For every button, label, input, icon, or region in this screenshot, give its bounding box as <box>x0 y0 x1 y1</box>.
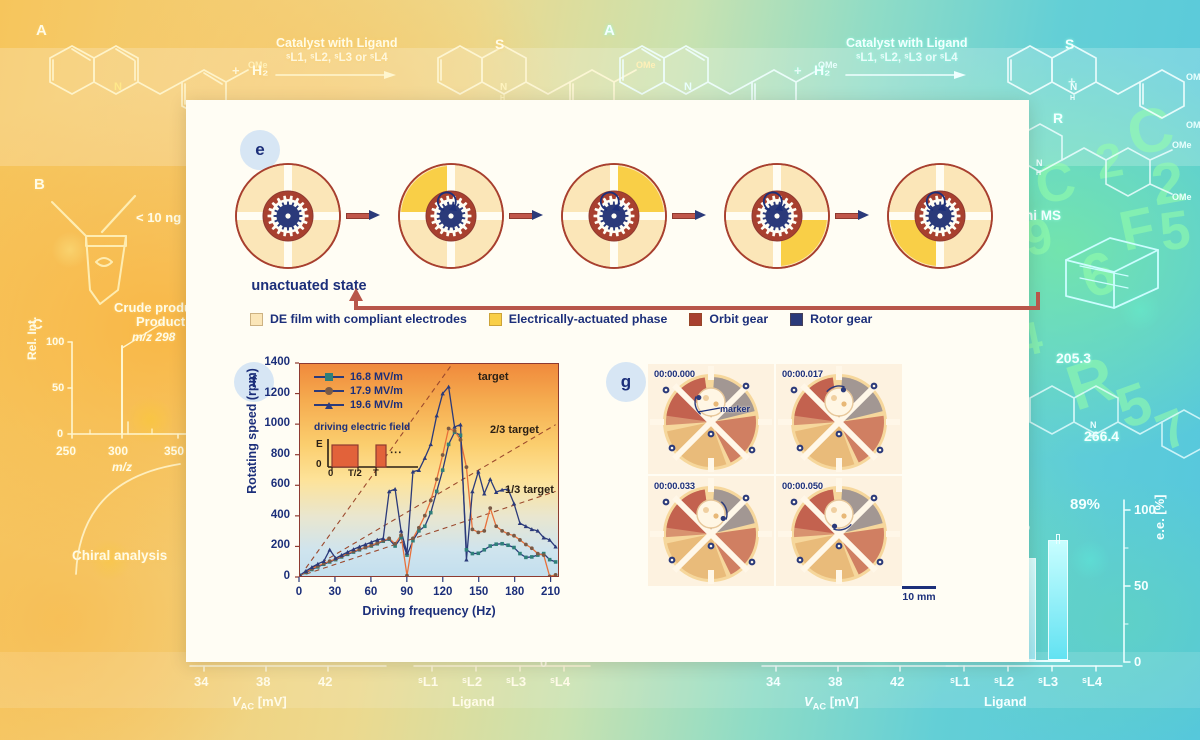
inset-xlabel-thalf: T/2 <box>348 468 362 479</box>
chart-ytick-1200: 1200 <box>242 387 290 399</box>
transition-arrow-2-icon <box>509 210 543 221</box>
mass-spectrum-axes <box>60 336 200 446</box>
data-point <box>464 557 468 561</box>
legend-label: DE film with compliant electrodes <box>270 312 467 326</box>
chart-legend-item-1: 17.9 MV/m <box>314 385 403 397</box>
frame-timestamp: 00:00.033 <box>654 481 695 491</box>
frame-050: 00:00.050 <box>776 476 902 586</box>
data-point <box>440 391 444 395</box>
reaction-scheme-right-enantiomer: N H OMe OMe <box>1010 118 1200 208</box>
data-point <box>441 453 445 457</box>
data-point <box>512 534 516 538</box>
reaction-arrow-right-icon <box>846 68 966 82</box>
data-point <box>542 535 546 539</box>
chart-ytick-0: 0 <box>242 570 290 582</box>
data-point <box>536 552 540 556</box>
data-point <box>429 511 433 515</box>
data-point <box>482 529 486 533</box>
target-annotation: target <box>478 371 509 383</box>
ee-value-l4: 89% <box>1070 496 1100 513</box>
figure-root: C 2 F 5 6 R 5 7 9 4 2 C OMe OMe N A + H₂… <box>0 0 1200 740</box>
ee-axis-title: e.e. [%] <box>1152 494 1167 540</box>
data-point <box>482 491 486 495</box>
data-point <box>500 529 504 533</box>
data-point <box>530 527 534 531</box>
legend-swatch-icon <box>250 313 263 326</box>
data-point <box>429 499 433 503</box>
frame-timestamp: 00:00.050 <box>782 481 823 491</box>
data-point <box>482 548 486 552</box>
data-point <box>512 501 516 505</box>
ligand-tick-l1-right: ˢL1 <box>950 674 970 689</box>
data-point <box>518 552 522 556</box>
vac-axis-title-left: VAC [mV] <box>232 694 287 712</box>
data-point <box>447 427 451 431</box>
ligand-tick-l2-left: ˢL2 <box>462 674 482 689</box>
nh-h-label-right: H <box>1070 95 1075 102</box>
transition-arrow-4-icon <box>835 210 869 221</box>
data-point <box>393 542 397 546</box>
gear-state-1 <box>234 162 342 270</box>
panel-g-badge: g <box>606 362 646 402</box>
chart-ytick-200: 200 <box>242 539 290 551</box>
chart-legend-item-2: 19.6 MV/m <box>314 399 403 411</box>
gear-state-sequence <box>234 162 1014 282</box>
legend-item-1: Electrically-actuated phase <box>489 312 668 326</box>
data-point <box>351 547 355 551</box>
scale-bar: 10 mm <box>902 586 936 603</box>
ome-label-right: OMe <box>818 60 838 70</box>
data-point <box>554 573 558 577</box>
ee-bar-l4 <box>1048 540 1068 660</box>
data-point <box>459 434 463 438</box>
legend-label: Orbit gear <box>709 312 768 326</box>
data-point <box>477 552 481 556</box>
legend-item-2: Orbit gear <box>689 312 768 326</box>
legend-item-0: DE film with compliant electrodes <box>250 312 467 326</box>
legend-swatch-icon <box>689 313 702 326</box>
ome-label-right-3: OMe <box>1186 72 1200 82</box>
gear-state-4 <box>723 162 831 270</box>
inset-ylabel-0: 0 <box>316 459 322 470</box>
svg-text:N: N <box>1090 420 1097 430</box>
vac-tick-42-left: 42 <box>318 674 332 689</box>
data-point <box>423 514 427 518</box>
data-point <box>447 443 451 447</box>
data-point <box>524 556 528 560</box>
data-point <box>488 544 492 548</box>
pipette-tube-icon <box>40 190 190 320</box>
ligand-tick-l4-left: ˢL4 <box>550 674 570 689</box>
chart-legend-label: 17.9 MV/m <box>350 385 403 397</box>
data-point <box>470 489 474 493</box>
chart-legend-marker-icon <box>314 400 344 410</box>
inset-ylabel-e: E <box>316 439 323 450</box>
background-axis-vac-left <box>190 660 390 674</box>
mini-ms-device-icon <box>1058 226 1168 316</box>
svg-text:H: H <box>1036 170 1041 177</box>
svg-text:OMe: OMe <box>1172 140 1192 150</box>
legend-swatch-icon <box>489 313 502 326</box>
chart-ytick-1000: 1000 <box>242 417 290 429</box>
data-point <box>310 565 314 569</box>
data-point <box>494 490 498 494</box>
inset-waveform: E 0 0 T/2 T ∙∙∙ <box>314 435 426 477</box>
data-point <box>458 422 462 426</box>
data-point <box>345 550 349 554</box>
data-point <box>405 551 409 555</box>
data-point <box>375 538 379 542</box>
data-point <box>530 546 534 550</box>
data-point <box>494 542 498 546</box>
data-point <box>547 538 551 542</box>
data-point <box>488 506 492 510</box>
figure-card: e unactuated state DE film with complian… <box>186 100 1029 662</box>
data-point <box>316 562 320 566</box>
chart-series-legend: 16.8 MV/m17.9 MV/m19.6 MV/m <box>314 371 403 413</box>
data-point <box>518 538 522 542</box>
data-point <box>452 425 456 429</box>
data-point <box>553 545 557 549</box>
ligand-tick-l4-right: ˢL4 <box>1082 674 1102 689</box>
data-point <box>506 543 510 547</box>
data-point <box>542 553 546 557</box>
chart-legend-marker-icon <box>314 386 344 396</box>
data-point <box>554 560 558 564</box>
data-point <box>357 545 361 549</box>
svg-text:OMe: OMe <box>1172 192 1192 202</box>
data-point <box>435 413 439 417</box>
gear-state-5 <box>886 162 994 270</box>
data-point <box>476 530 480 534</box>
ee-axis-right <box>1118 498 1132 664</box>
nh-atom-label-left: N <box>500 82 507 93</box>
vac-axis-title-right: VAC [mV] <box>804 694 859 712</box>
data-point <box>524 524 528 528</box>
nh-atom-label-right: N <box>1070 82 1077 93</box>
data-point <box>500 542 504 546</box>
data-point <box>536 529 540 533</box>
vac-tick-38-right: 38 <box>828 674 842 689</box>
legend-label: Rotor gear <box>810 312 872 326</box>
chart-ytick-1400: 1400 <box>242 356 290 368</box>
time-lapse-frames: 00:00.000marker00:00.01700:00.03300:00.0… <box>648 364 902 586</box>
data-point <box>459 438 463 442</box>
driving-field-inset: driving electric field E 0 <box>314 422 436 480</box>
n-atom-label-left: N <box>114 81 122 93</box>
data-point <box>500 488 504 492</box>
legend-label: Electrically-actuated phase <box>509 312 668 326</box>
chart-ytick-400: 400 <box>242 509 290 521</box>
gear-state-2 <box>397 162 505 270</box>
data-point <box>518 521 522 525</box>
chart-legend-marker-icon <box>314 372 344 382</box>
data-point <box>339 553 343 557</box>
inset-ellipsis: ∙∙∙ <box>390 447 402 459</box>
chart-ytick-600: 600 <box>242 478 290 490</box>
inset-xlabel-0: 0 <box>328 468 333 479</box>
data-point <box>399 533 403 537</box>
data-point <box>441 468 445 472</box>
data-point <box>453 429 457 433</box>
panel-e: e unactuated state DE film with complian… <box>186 100 1029 350</box>
data-point <box>530 555 534 559</box>
data-point <box>465 548 469 552</box>
data-point <box>322 559 326 563</box>
data-point <box>387 489 391 493</box>
gear-state-3 <box>560 162 668 270</box>
vac-tick-38-left: 38 <box>256 674 270 689</box>
data-point <box>381 536 385 540</box>
data-point <box>548 558 552 562</box>
data-point <box>328 559 332 563</box>
data-point <box>476 470 480 474</box>
data-point <box>387 537 391 541</box>
data-point <box>446 385 450 389</box>
data-point <box>488 477 492 481</box>
frame-timestamp: 00:00.017 <box>782 369 823 379</box>
inset-title: driving electric field <box>314 422 436 433</box>
svg-text:N: N <box>1036 158 1043 168</box>
vac-tick-34-right: 34 <box>766 674 780 689</box>
marker-leader-line <box>648 364 774 474</box>
ligand-tick-l2-right: ˢL2 <box>994 674 1014 689</box>
legend-swatch-icon <box>790 313 803 326</box>
panel-f: f Rotating speed (rpm) Driving frequency… <box>224 350 594 650</box>
n-atom-label-right: N <box>684 81 692 93</box>
svg-text:H₂: H₂ <box>1090 433 1098 440</box>
frame-000: 00:00.000marker <box>648 364 774 474</box>
ligand-tick-l3-right: ˢL3 <box>1038 674 1058 689</box>
ligand-tick-l3-left: ˢL3 <box>506 674 526 689</box>
legend-item-3: Rotor gear <box>790 312 872 326</box>
panel-e-legend: DE film with compliant electrodesElectri… <box>250 312 872 326</box>
ee-errorbar-l4 <box>1056 534 1060 544</box>
vac-tick-42-right: 42 <box>890 674 904 689</box>
chart-plot-area: 16.8 MV/m17.9 MV/m19.6 MV/m driving elec… <box>299 363 559 577</box>
ligand-axis-title-left: Ligand <box>452 694 495 709</box>
data-point <box>369 540 373 544</box>
data-point <box>423 525 427 529</box>
data-point <box>471 527 475 531</box>
transition-arrow-3-icon <box>672 210 706 221</box>
background-axis-ligand-right <box>946 660 1126 674</box>
data-point <box>506 532 510 536</box>
frame-017: 00:00.017 <box>776 364 902 474</box>
data-point <box>393 487 397 491</box>
data-point <box>465 465 469 469</box>
data-point <box>363 542 367 546</box>
background-axis-ligand-left <box>414 660 594 674</box>
background-structure-bottom-right: N H₂ <box>1020 370 1200 480</box>
scale-bar-label: 10 mm <box>902 591 936 603</box>
ee-ytick-0: 0 <box>1134 654 1141 669</box>
inset-xlabel-t: T <box>373 468 379 479</box>
reaction-arrow-left-icon <box>276 68 396 82</box>
scale-bar-line <box>902 586 936 589</box>
chart-legend-label: 16.8 MV/m <box>350 371 403 383</box>
ee-ytick-50: 50 <box>1134 578 1148 593</box>
ome-label-left: OMe <box>248 60 268 70</box>
vac-tick-34-left: 34 <box>194 674 208 689</box>
transition-arrow-1-icon <box>346 210 380 221</box>
ligand-tick-l1-left: ˢL1 <box>418 674 438 689</box>
data-point <box>328 548 332 552</box>
data-point <box>524 543 528 547</box>
data-point <box>548 574 552 577</box>
data-point <box>399 529 403 533</box>
chart-legend-label: 19.6 MV/m <box>350 399 403 411</box>
curved-flow-arrow-icon <box>40 460 200 590</box>
data-point <box>494 524 498 528</box>
data-point <box>405 574 409 577</box>
data-point <box>411 537 415 541</box>
two-thirds-target-annotation: 2/3 target <box>490 424 539 436</box>
chart-ytick-800: 800 <box>242 448 290 460</box>
panel-g: g 00:00.000marker00:00.01700:00.03300:00… <box>606 350 1026 650</box>
data-point <box>417 526 421 530</box>
background-axis-vac-right <box>762 660 962 674</box>
data-point <box>435 490 439 494</box>
data-point <box>512 546 516 550</box>
frame-033: 00:00.033 <box>648 476 774 586</box>
ligand-axis-title-right: Ligand <box>984 694 1027 709</box>
chart-legend-item-0: 16.8 MV/m <box>314 371 403 383</box>
one-third-target-annotation: 1/3 target <box>505 484 554 496</box>
data-point <box>471 552 475 556</box>
